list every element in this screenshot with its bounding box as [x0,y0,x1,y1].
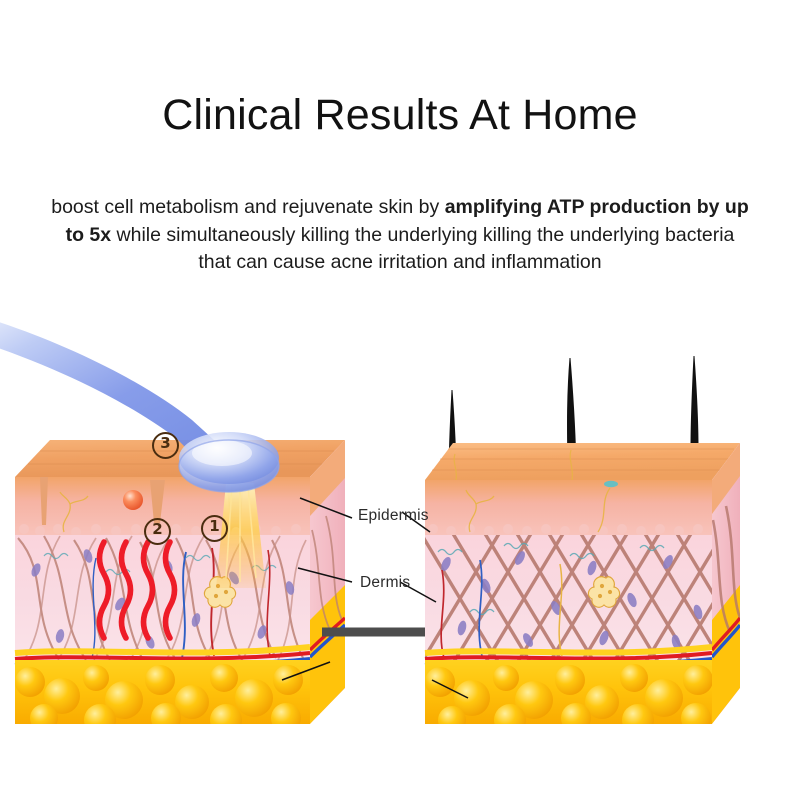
callout-badge-3: 3 [152,432,179,459]
callout-badge-1: 1 [201,515,228,542]
skin-diagram [0,320,800,750]
left-surface-bacteria-dot [123,490,143,510]
subtitle-text-lead: boost cell metabolism and rejuvenate ski… [51,196,444,218]
callout-badge-2: 2 [144,518,171,545]
rejuvenated-skin-block [420,356,756,736]
label-epidermis: Epidermis [358,507,429,525]
right-sensory-receptor [604,481,618,487]
page-subtitle: boost cell metabolism and rejuvenate ski… [50,194,750,277]
page-title: Clinical Results At Home [0,92,800,139]
treated-skin-block [0,320,345,736]
subtitle-text-tail: while simultaneously killing the underly… [111,224,734,274]
label-dermis: Dermis [360,574,410,592]
page-root: Clinical Results At Home boost cell meta… [0,0,800,800]
